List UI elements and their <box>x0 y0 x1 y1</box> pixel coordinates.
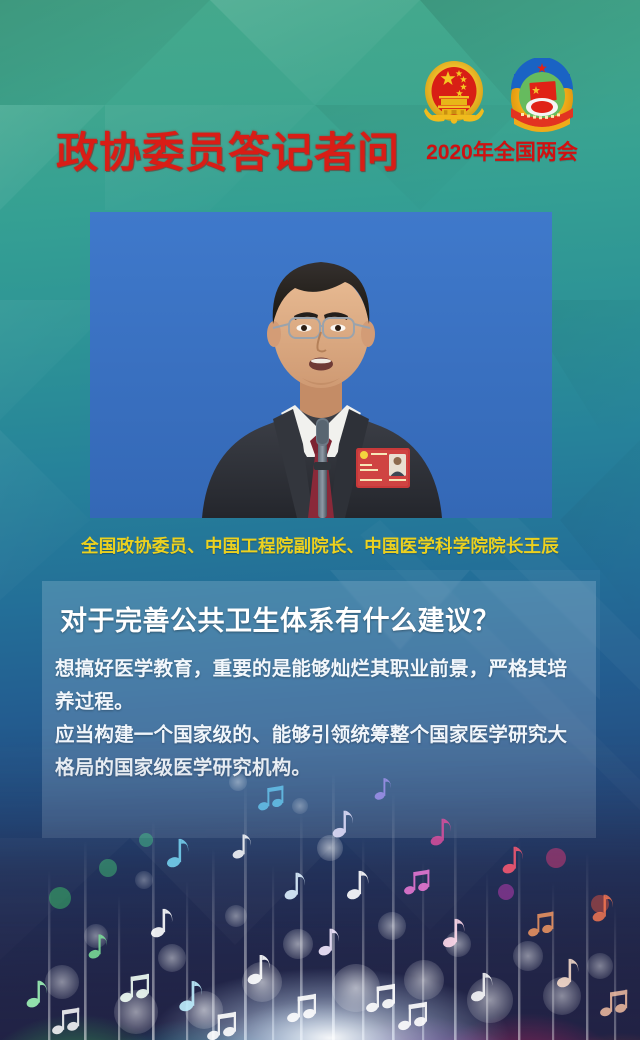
year-label: 2020年全国两会 <box>414 136 590 166</box>
answer-body: 想搞好医学教育，重要的是能够灿烂其职业前景，严格其培养过程。 应当构建一个国家级… <box>55 653 585 785</box>
answer-paragraph-2: 应当构建一个国家级的、能够引领统筹整个国家医学研究大格局的国家级医学研究机构。 <box>55 719 585 785</box>
national-emblem-icon <box>418 58 490 136</box>
cppcc-emblem-icon <box>502 58 582 138</box>
speaker-caption: 全国政协委员、中国工程院副院长、中国医学科学院院长王辰 <box>0 533 640 558</box>
poster-root: 2020年全国两会 政协委员答记者问 <box>0 0 640 1040</box>
page-title: 政协委员答记者问 <box>56 119 400 180</box>
answer-paragraph-1: 想搞好医学教育，重要的是能够灿烂其职业前景，严格其培养过程。 <box>55 653 585 719</box>
answer-panel: 对于完善公共卫生体系有什么建议？ 想搞好医学教育，重要的是能够灿烂其职业前景，严… <box>42 581 596 838</box>
question-text: 对于完善公共卫生体系有什么建议？ <box>60 599 500 638</box>
speaker-portrait <box>90 212 552 518</box>
